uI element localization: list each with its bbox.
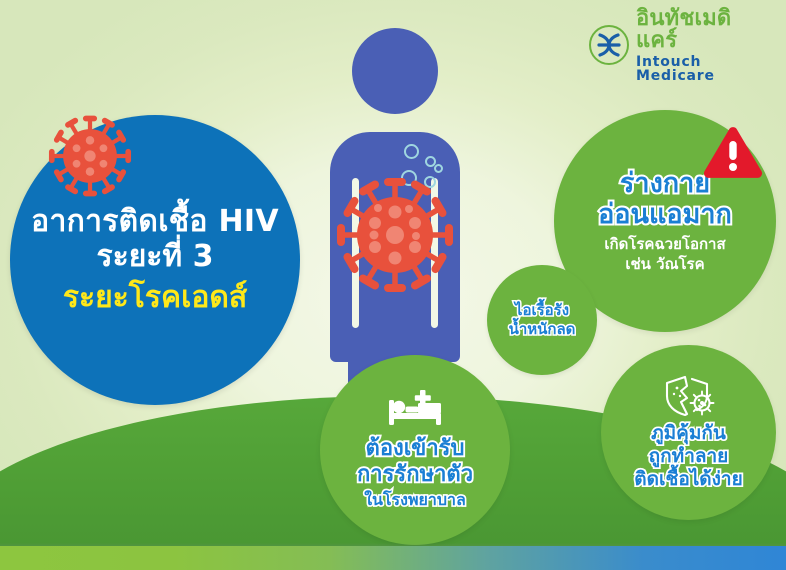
symptom-circle-immunity-destroyed: ภูมิคุ้มกัน ถูกทำลาย ติดเชื้อได้ง่าย — [601, 345, 776, 520]
symptom-title-line1: ไอเรื้อรัง — [515, 301, 569, 320]
hospital-bed-icon — [385, 390, 445, 432]
symptom-title-line1: ต้องเข้ารับ — [366, 436, 465, 462]
person-head — [352, 28, 438, 114]
brand-logo[interactable]: อินทัชเมดิแคร์ Intouch Medicare — [588, 20, 772, 70]
symptom-title-line2: น้ำหนักลด — [509, 320, 576, 339]
symptom-sub-line1: เกิดโรคฉวยโอกาส — [604, 235, 725, 255]
main-title-line3: ระยะโรคเอดส์ — [63, 279, 247, 317]
hiv-virus-large — [330, 170, 460, 300]
brand-name-thai: อินทัชเมดิแคร์ — [636, 8, 772, 52]
symptom-title-line2: อ่อนแอมาก — [598, 199, 732, 230]
virus-small-svg — [44, 110, 136, 202]
symptom-sub-line1: ในโรงพยาบาล — [364, 490, 466, 510]
bottom-gradient-bar — [0, 546, 786, 570]
symptom-title-line2: การรักษาตัว — [357, 462, 473, 488]
symptom-title-line2: ถูกทำลาย — [649, 445, 729, 468]
symptom-title-line1: ร่างกาย — [620, 168, 710, 199]
broken-shield-virus-icon — [661, 374, 717, 418]
intouch-medicare-logo-mark — [588, 24, 630, 66]
brand-logo-text: อินทัชเมดิแคร์ Intouch Medicare — [636, 8, 772, 83]
main-title-line2: ระยะที่ 3 — [96, 239, 213, 274]
symptom-title-line1: ภูมิคุ้มกัน — [651, 422, 726, 445]
symptom-sub-line2: เช่น วัณโรค — [625, 255, 704, 275]
germ-bubble — [404, 144, 419, 159]
symptom-circle-hospital-treatment: ต้องเข้ารับ การรักษาตัว ในโรงพยาบาล — [320, 355, 510, 545]
symptom-circle-chronic-cough: ไอเรื้อรัง น้ำหนักลด — [487, 265, 597, 375]
infographic-canvas: อาการติดเชื้อ HIV ระยะที่ 3 ระยะโรคเอดส์ — [0, 0, 786, 570]
hiv-virus-small — [44, 110, 136, 202]
symptom-title-line3: ติดเชื้อได้ง่าย — [634, 468, 742, 491]
brand-name-english: Intouch Medicare — [636, 55, 772, 83]
warning-triangle-icon — [702, 125, 764, 181]
main-title-line1: อาการติดเชื้อ HIV — [31, 204, 279, 239]
virus-large-svg — [330, 170, 460, 300]
